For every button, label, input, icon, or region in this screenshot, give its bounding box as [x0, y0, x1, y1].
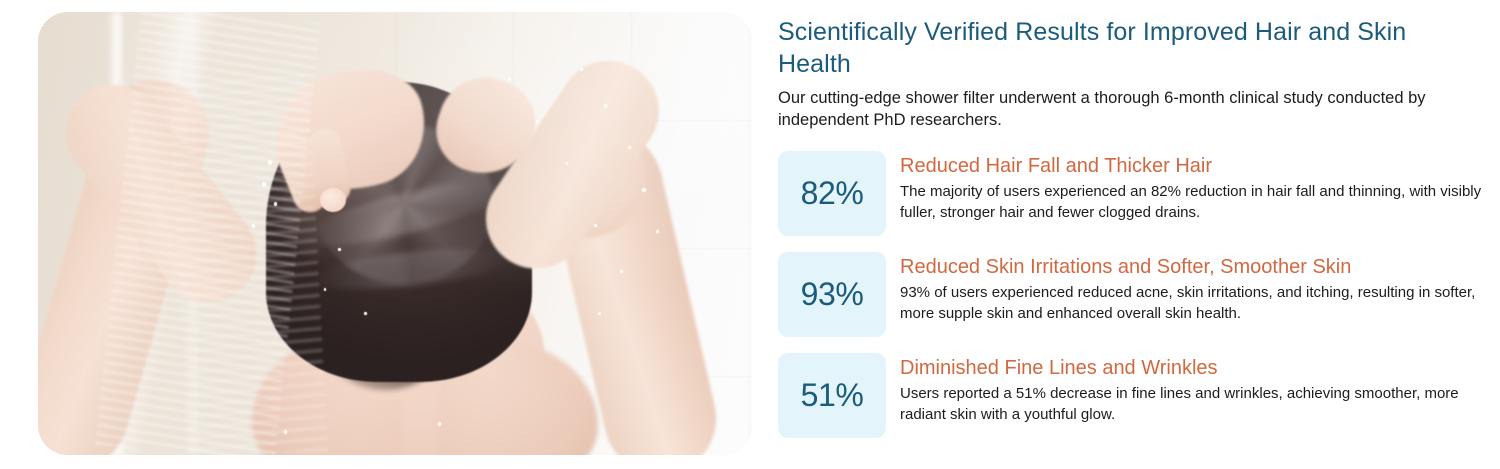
- stat-description: Users reported a 51% decrease in fine li…: [900, 384, 1484, 425]
- stat-text: Diminished Fine Lines and Wrinkles Users…: [900, 353, 1484, 425]
- water-droplet: [438, 422, 441, 426]
- water-droplet: [268, 160, 272, 165]
- page-title: Scientifically Verified Results for Impr…: [778, 16, 1484, 80]
- water-droplet: [604, 104, 607, 108]
- water-droplet: [656, 230, 659, 233]
- shower-photo: [38, 12, 752, 455]
- water-droplet: [252, 224, 255, 228]
- stat-item: 93% Reduced Skin Irritations and Softer,…: [778, 252, 1484, 337]
- results-section: Scientifically Verified Results for Impr…: [0, 0, 1500, 469]
- water-droplet: [364, 312, 367, 315]
- stats-list: 82% Reduced Hair Fall and Thicker Hair T…: [778, 151, 1484, 438]
- results-content: Scientifically Verified Results for Impr…: [778, 16, 1484, 438]
- stat-value-badge: 51%: [778, 353, 886, 438]
- water-droplet: [628, 146, 631, 149]
- water-droplet: [338, 248, 341, 251]
- stat-item: 51% Diminished Fine Lines and Wrinkles U…: [778, 353, 1484, 438]
- water-droplet: [284, 430, 287, 434]
- water-droplet: [620, 270, 623, 273]
- fingertip: [320, 188, 346, 212]
- stat-text: Reduced Hair Fall and Thicker Hair The m…: [900, 151, 1484, 223]
- water-droplet: [262, 182, 266, 187]
- water-droplet: [598, 312, 601, 315]
- stat-title: Reduced Hair Fall and Thicker Hair: [900, 154, 1484, 180]
- water-droplet: [594, 224, 597, 227]
- stat-item: 82% Reduced Hair Fall and Thicker Hair T…: [778, 151, 1484, 236]
- water-droplet: [324, 288, 326, 291]
- water-stream-secondary: [168, 69, 328, 455]
- water-droplet: [566, 162, 568, 165]
- water-droplet: [580, 68, 583, 71]
- intro-paragraph: Our cutting-edge shower filter underwent…: [778, 88, 1478, 132]
- stat-value-badge: 82%: [778, 151, 886, 236]
- water-droplet: [508, 78, 511, 81]
- stat-text: Reduced Skin Irritations and Softer, Smo…: [900, 252, 1484, 324]
- stat-title: Diminished Fine Lines and Wrinkles: [900, 356, 1484, 382]
- water-droplet: [536, 120, 539, 123]
- stat-value-badge: 93%: [778, 252, 886, 337]
- water-droplet: [642, 188, 646, 192]
- photo-canvas: [38, 12, 752, 455]
- stat-description: 93% of users experienced reduced acne, s…: [900, 283, 1484, 324]
- water-droplet: [274, 202, 277, 206]
- stat-description: The majority of users experienced an 82%…: [900, 182, 1484, 223]
- stat-title: Reduced Skin Irritations and Softer, Smo…: [900, 255, 1484, 281]
